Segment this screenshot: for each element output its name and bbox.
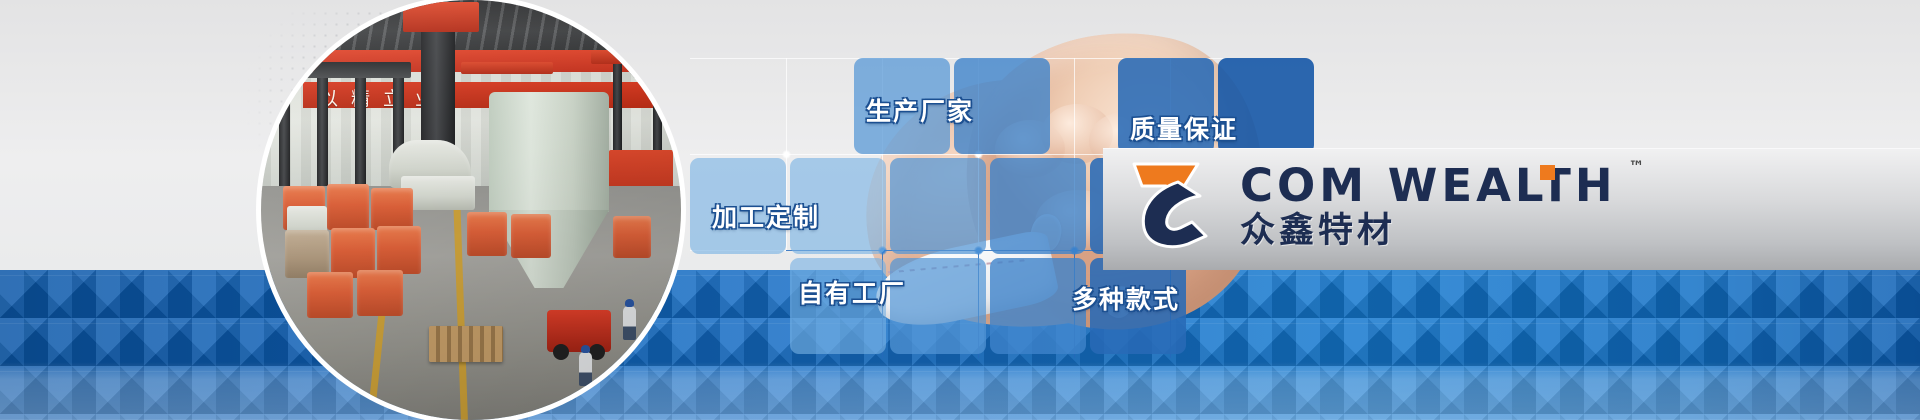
brand-name-cn: 众鑫特材	[1240, 214, 1617, 249]
tile-decor[interactable]	[890, 158, 986, 254]
trademark-symbol: ™	[1629, 159, 1645, 175]
tile-label-custom: 加工定制	[712, 198, 820, 234]
tile-label-factory: 自有工厂	[798, 274, 906, 310]
grid-node	[782, 150, 791, 159]
tile-label-quality: 质量保证	[1130, 110, 1238, 146]
brand-logo[interactable]: COM WEALTH ™ 众鑫特材	[1120, 152, 1617, 256]
tile-label-styles: 多种款式	[1072, 280, 1180, 316]
brand-text: COM WEALTH ™ 众鑫特材	[1240, 159, 1617, 249]
tile-decor[interactable]	[990, 158, 1086, 254]
photo-shading	[261, 0, 681, 420]
t-orange-accent	[1540, 165, 1555, 180]
promo-banner: 以精立业	[0, 0, 1920, 420]
factory-photo-circle: 以精立业	[261, 0, 681, 420]
com-wealth-logo-icon	[1120, 152, 1224, 256]
brand-name-en: COM WEALTH ™	[1240, 163, 1617, 208]
tile-label-manufacturer: 生产厂家	[866, 92, 974, 128]
factory-photo: 以精立业	[261, 0, 681, 420]
brand-name-en-text: COM WEALTH	[1240, 159, 1617, 212]
